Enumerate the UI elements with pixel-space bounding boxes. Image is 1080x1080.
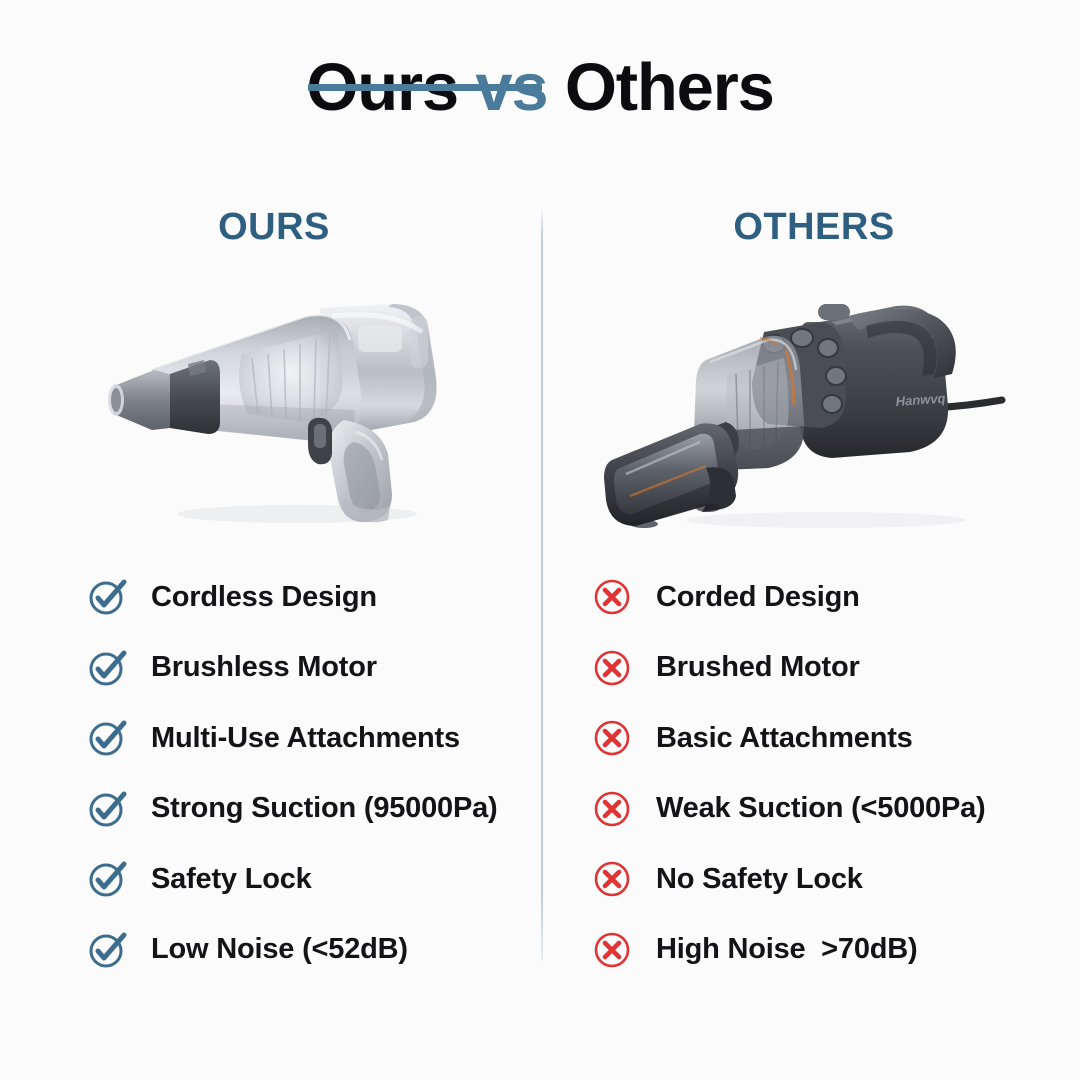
check-circle-icon [86,787,130,831]
check-circle-icon [86,646,130,690]
column-heading-others: OTHERS [548,206,1080,250]
feature-row: Brushless Motor [86,633,526,704]
vertical-divider [541,205,543,961]
feature-row: Strong Suction (95000Pa) [86,774,526,845]
product-image-others: Hanwvq [596,282,1006,532]
x-circle-icon [590,575,634,619]
feature-label: Corded Design [656,583,860,612]
feature-label: Weak Suction (<5000Pa) [656,794,986,823]
feature-row: Safety Lock [86,844,526,915]
x-circle-icon [590,716,634,760]
feature-row: Weak Suction (<5000Pa) [590,774,1060,845]
product-image-ours [92,282,462,527]
feature-label: Cordless Design [151,583,377,612]
feature-label: Low Noise (<52dB) [151,935,408,964]
feature-label: Strong Suction (95000Pa) [151,794,498,823]
feature-row: No Safety Lock [590,844,1060,915]
feature-label: Basic Attachments [656,724,913,753]
x-circle-icon [590,646,634,690]
feature-list-others: Corded Design Brushed Motor Basic Attach… [590,562,1060,985]
feature-label: Safety Lock [151,865,312,894]
column-heading-ours: OURS [0,206,548,250]
feature-label: Multi-Use Attachments [151,724,460,753]
feature-label: Brushed Motor [656,653,860,682]
title-underline [308,84,542,91]
x-circle-icon [590,928,634,972]
feature-label: No Safety Lock [656,865,863,894]
feature-row: Low Noise (<52dB) [86,915,526,986]
feature-row: Multi-Use Attachments [86,703,526,774]
feature-row: Cordless Design [86,562,526,633]
comparison-infographic: Ours vs Others OURS OTHERS [0,0,1080,1080]
feature-list-ours: Cordless Design Brushless Motor Multi-Us… [86,562,526,985]
feature-row: High Noise >70dB) [590,915,1060,986]
feature-row: Brushed Motor [590,633,1060,704]
check-circle-icon [86,928,130,972]
page-title-others: Others [565,50,774,125]
feature-row: Basic Attachments [590,703,1060,774]
feature-label: High Noise >70dB) [656,935,917,964]
check-circle-icon [86,857,130,901]
check-circle-icon [86,716,130,760]
feature-row: Corded Design [590,562,1060,633]
x-circle-icon [590,787,634,831]
x-circle-icon [590,857,634,901]
check-circle-icon [86,575,130,619]
feature-label: Brushless Motor [151,653,377,682]
